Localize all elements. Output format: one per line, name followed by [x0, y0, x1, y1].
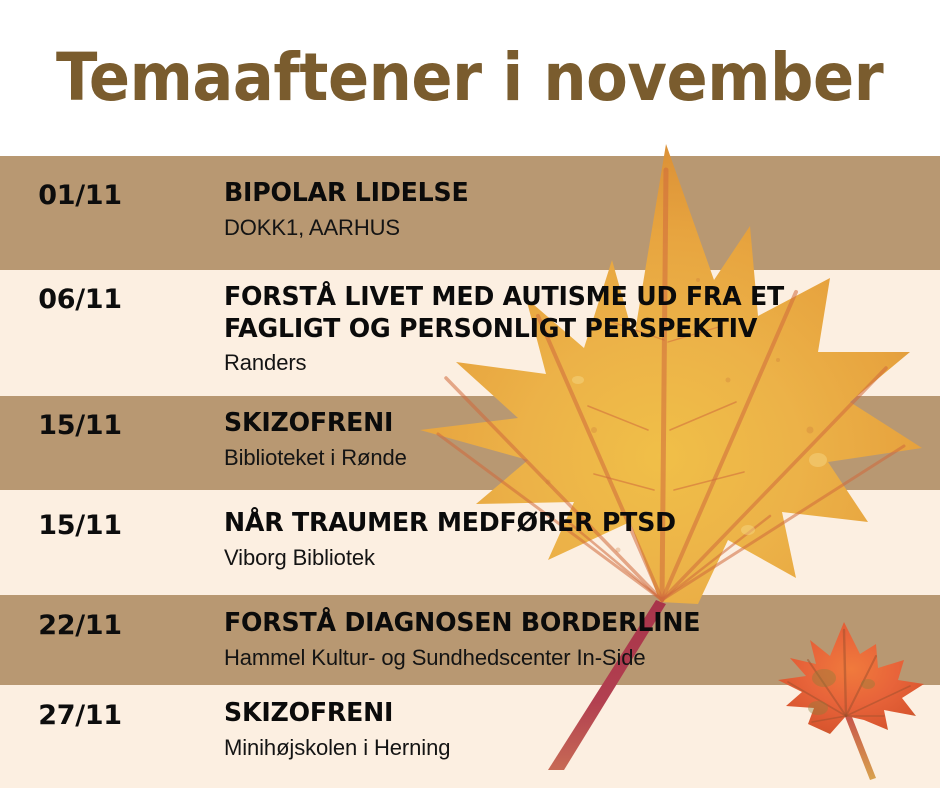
event-row-2[interactable]: 06/11 FORSTÅ LIVET MED AUTISME UD FRA ET…: [0, 282, 940, 378]
event-title: SKIZOFRENI: [224, 408, 919, 440]
event-title: FORSTÅ LIVET MED AUTISME UD FRA ET FAGLI…: [224, 282, 835, 345]
event-date: 15/11: [0, 508, 160, 541]
event-body: SKIZOFRENI Biblioteket i Rønde: [160, 408, 940, 472]
event-row-4[interactable]: 15/11 NÅR TRAUMER MEDFØRER PTSD Viborg B…: [0, 508, 940, 572]
event-venue: Biblioteket i Rønde: [224, 444, 940, 473]
event-venue: Minihøjskolen i Herning: [224, 734, 940, 763]
event-title: NÅR TRAUMER MEDFØRER PTSD: [224, 508, 919, 540]
poster-canvas: Temaaftener i november 01/11 BIPOLAR LID…: [0, 0, 940, 788]
page-title: Temaaftener i november: [56, 45, 883, 111]
event-venue: Hammel Kultur- og Sundhedscenter In-Side: [224, 644, 940, 673]
event-row-3[interactable]: 15/11 SKIZOFRENI Biblioteket i Rønde: [0, 408, 940, 472]
event-date: 06/11: [0, 282, 160, 315]
event-row-1[interactable]: 01/11 BIPOLAR LIDELSE DOKK1, AARHUS: [0, 178, 940, 242]
event-title: FORSTÅ DIAGNOSEN BORDERLINE: [224, 608, 919, 640]
event-title: BIPOLAR LIDELSE: [224, 178, 919, 210]
event-date: 22/11: [0, 608, 160, 641]
event-row-5[interactable]: 22/11 FORSTÅ DIAGNOSEN BORDERLINE Hammel…: [0, 608, 940, 672]
event-venue: Viborg Bibliotek: [224, 544, 940, 573]
event-body: NÅR TRAUMER MEDFØRER PTSD Viborg Bibliot…: [160, 508, 940, 572]
event-title: SKIZOFRENI: [224, 698, 919, 730]
event-date: 15/11: [0, 408, 160, 441]
event-body: FORSTÅ DIAGNOSEN BORDERLINE Hammel Kultu…: [160, 608, 940, 672]
event-venue: Randers: [224, 349, 940, 378]
event-body: FORSTÅ LIVET MED AUTISME UD FRA ET FAGLI…: [160, 282, 940, 378]
event-venue: DOKK1, AARHUS: [224, 214, 940, 243]
poster-header: Temaaftener i november: [0, 0, 940, 156]
event-body: SKIZOFRENI Minihøjskolen i Herning: [160, 698, 940, 762]
event-date: 27/11: [0, 698, 160, 731]
event-date: 01/11: [0, 178, 160, 211]
event-body: BIPOLAR LIDELSE DOKK1, AARHUS: [160, 178, 940, 242]
event-row-6[interactable]: 27/11 SKIZOFRENI Minihøjskolen i Herning: [0, 698, 940, 762]
